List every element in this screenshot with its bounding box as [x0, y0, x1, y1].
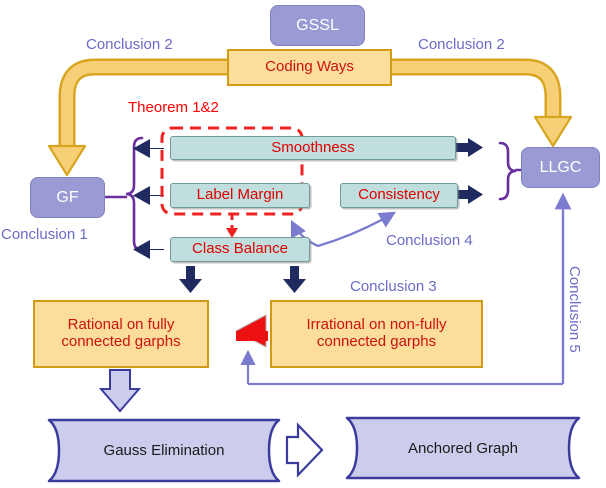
node-gssl[interactable]: GSSL	[270, 5, 365, 46]
node-consistency-label: Consistency	[358, 187, 440, 204]
node-irrational-line1: Irrational on non-fully	[306, 317, 446, 334]
block-arrow-right-anchored	[287, 425, 322, 475]
yellow-pipe-right	[392, 67, 571, 146]
node-rational-line1: Rational on fully	[68, 317, 175, 334]
navy-arrow-down-to-rational	[179, 266, 202, 293]
brace-right	[500, 143, 523, 199]
node-gauss-elimination-label: Gauss Elimination	[104, 442, 225, 459]
node-smoothness[interactable]: Smoothness	[170, 136, 456, 160]
node-llgc-label: LLGC	[540, 159, 582, 177]
node-llgc[interactable]: LLGC	[521, 147, 600, 188]
node-consistency[interactable]: Consistency	[340, 183, 458, 208]
label-conclusion-2-right: Conclusion 2	[418, 36, 505, 53]
node-coding-ways[interactable]: Coding Ways	[227, 49, 392, 86]
navy-arrow-down-to-irrational	[283, 266, 306, 293]
node-coding-ways-label: Coding Ways	[265, 59, 354, 76]
node-irrational-line2: connected garphs	[317, 334, 436, 351]
node-smoothness-label: Smoothness	[271, 140, 354, 157]
label-conclusion-1: Conclusion 1	[1, 226, 88, 243]
label-theorem: Theorem 1&2	[128, 99, 219, 116]
diagram-canvas: GSSL Coding Ways GF LLGC Smoothness Labe…	[0, 0, 606, 488]
label-conclusion-3: Conclusion 3	[350, 278, 437, 295]
node-rational-line2: connected garphs	[61, 334, 180, 351]
navy-arrow-classbalance-left	[133, 240, 164, 259]
label-conclusion-5: Conclusion 5	[566, 266, 583, 353]
node-class-balance-label: Class Balance	[192, 241, 288, 258]
node-class-balance[interactable]: Class Balance	[170, 237, 310, 262]
node-irrational[interactable]: Irrational on non-fully connected garphs	[270, 300, 483, 368]
node-gauss-elimination[interactable]: Gauss Elimination	[47, 418, 281, 483]
node-anchored-graph[interactable]: Anchored Graph	[345, 416, 581, 480]
node-rational[interactable]: Rational on fully connected garphs	[33, 300, 209, 368]
navy-arrow-smoothness-left	[133, 139, 164, 158]
conclusion4-curve-right	[318, 213, 394, 246]
label-conclusion-4: Conclusion 4	[386, 232, 473, 249]
node-label-margin[interactable]: Label Margin	[170, 183, 310, 208]
block-arrow-down-gauss	[101, 370, 139, 411]
node-gf[interactable]: GF	[30, 177, 105, 218]
node-gssl-label: GSSL	[296, 17, 339, 35]
node-anchored-graph-label: Anchored Graph	[408, 440, 518, 457]
navy-arrow-smoothness-right	[456, 138, 483, 157]
navy-arrow-consistency-right	[456, 185, 483, 204]
red-arrow-irrational-to-rational	[236, 315, 268, 347]
red-dashed-arrow-down	[226, 214, 238, 238]
node-label-margin-label: Label Margin	[197, 187, 284, 204]
navy-arrow-labelmargin-left	[133, 186, 164, 205]
node-gf-label: GF	[56, 189, 78, 207]
label-conclusion-2-left: Conclusion 2	[86, 36, 173, 53]
